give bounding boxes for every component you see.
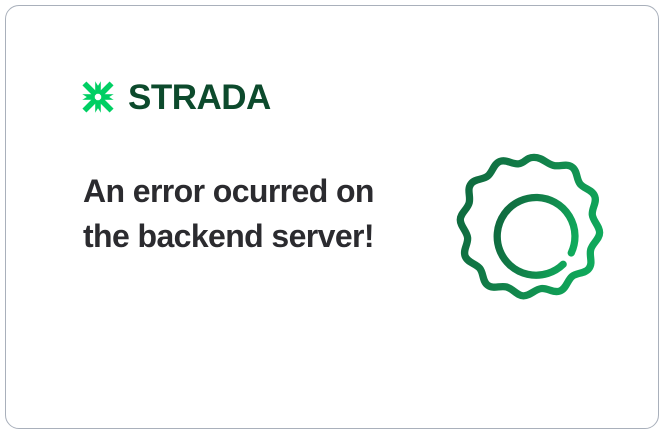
- strada-asterisk-icon: [78, 77, 118, 117]
- error-card: STRADA An error ocurred on the backend s…: [5, 5, 659, 429]
- error-headline: An error ocurred on the backend server!: [83, 169, 383, 259]
- cog-icon: [453, 146, 615, 308]
- brand-wordmark: STRADA: [128, 80, 271, 115]
- brand-lockup: STRADA: [78, 74, 271, 120]
